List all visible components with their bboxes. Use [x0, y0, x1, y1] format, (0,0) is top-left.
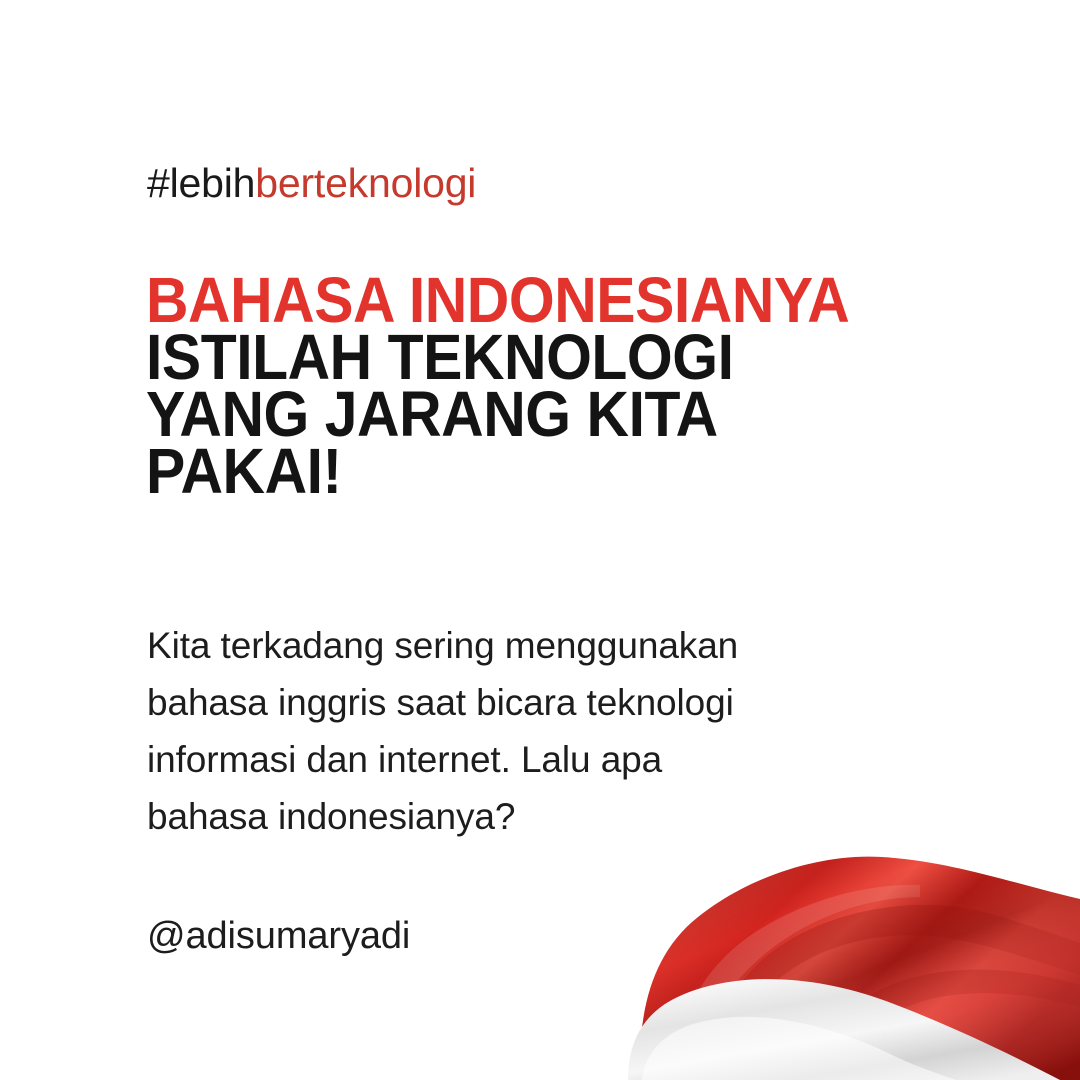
- poster-canvas: #lebihberteknologi BAHASA INDONESIANYA I…: [0, 0, 1080, 1080]
- hashtag: #lebihberteknologi: [147, 163, 476, 204]
- flag-white-band: [628, 979, 1060, 1080]
- flag-red-band: [640, 857, 1080, 1080]
- headline-block: BAHASA INDONESIANYA ISTILAH TEKNOLOGI YA…: [146, 272, 1026, 500]
- body-line-1: Kita terkadang sering menggunakan: [147, 617, 887, 674]
- flag-red-shading: [640, 857, 1080, 1080]
- author-handle: @adisumaryadi: [147, 917, 410, 955]
- body-line-3: informasi dan internet. Lalu apa: [147, 731, 887, 788]
- flag-white-highlight: [642, 1017, 956, 1080]
- body-paragraph: Kita terkadang sering menggunakan bahasa…: [147, 617, 887, 845]
- body-line-2: bahasa inggris saat bicara teknologi: [147, 674, 887, 731]
- indonesia-flag-graphic: [620, 825, 1080, 1080]
- hashtag-prefix: #lebih: [147, 160, 255, 206]
- headline-line-4: PAKAI!: [146, 443, 956, 500]
- flag-fold-shadow-2: [818, 970, 1080, 1080]
- flag-fold-shadow-1: [716, 905, 1080, 1080]
- hashtag-suffix: berteknologi: [255, 160, 476, 206]
- flag-fold-highlight: [676, 885, 920, 1080]
- body-line-4: bahasa indonesianya?: [147, 788, 887, 845]
